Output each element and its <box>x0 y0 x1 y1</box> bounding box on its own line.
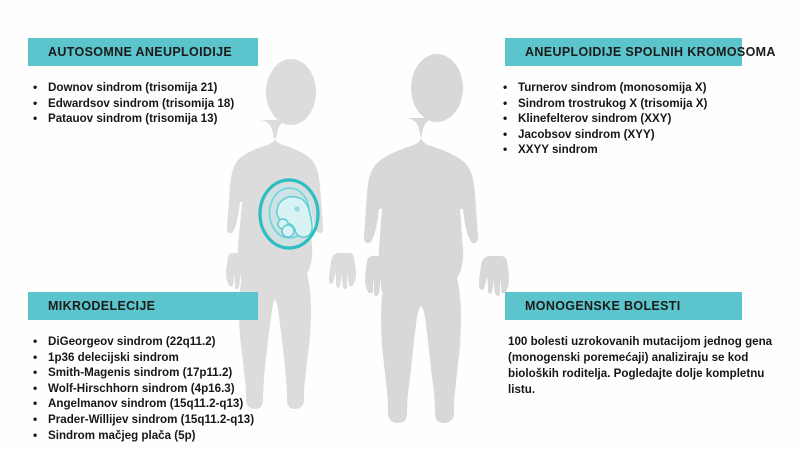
list-item: •Downov sindrom (trisomija 21) <box>28 80 278 96</box>
bullet-icon: • <box>503 80 507 96</box>
list-item-label: Wolf-Hirschhorn sindrom (4p16.3) <box>48 382 235 395</box>
list-item-label: 1p36 delecijski sindrom <box>48 351 179 364</box>
header-bar-sex-chromosome-aneuploidies: ANEUPLOIDIJE SPOLNIH KROMOSOMA <box>505 38 742 66</box>
list-item-label: Prader-Willijev sindrom (15q11.2-q13) <box>48 413 254 426</box>
bullet-icon: • <box>33 365 37 381</box>
list-item-label: Jacobsov sindrom (XYY) <box>518 128 655 141</box>
bullet-icon: • <box>503 127 507 143</box>
bullet-icon: • <box>33 428 37 444</box>
list-item: •Prader-Willijev sindrom (15q11.2-q13) <box>28 412 278 428</box>
panel-monogenic-diseases: 100 bolesti uzrokovanih mutacijom jednog… <box>508 334 793 398</box>
header-title-microdeletions: MIKRODELECIJE <box>28 299 155 313</box>
list-item: •1p36 delecijski sindrom <box>28 350 278 366</box>
list-item-label: DiGeorgeov sindrom (22q11.2) <box>48 335 216 348</box>
bullet-icon: • <box>33 80 37 96</box>
list-item: •Angelmanov sindrom (15q11.2-q13) <box>28 396 278 412</box>
bullet-icon: • <box>33 334 37 350</box>
bullet-icon: • <box>503 96 507 112</box>
header-bar-monogenic-diseases: MONOGENSKE BOLESTI <box>505 292 742 320</box>
list-item: •Wolf-Hirschhorn sindrom (4p16.3) <box>28 381 278 397</box>
bullet-icon: • <box>33 96 37 112</box>
list-item: •Jacobsov sindrom (XYY) <box>498 127 778 143</box>
list-item: •Sindrom mačjeg plača (5p) <box>28 428 278 444</box>
embryo-illustration <box>258 178 320 250</box>
list-autosomal: •Downov sindrom (trisomija 21) •Edwardso… <box>28 80 278 127</box>
list-microdeletions: •DiGeorgeov sindrom (22q11.2) •1p36 dele… <box>28 334 278 443</box>
bullet-icon: • <box>33 396 37 412</box>
header-bar-autosomal-aneuploidies: AUTOSOMNE ANEUPLOIDIJE <box>28 38 258 66</box>
list-item-label: Turnerov sindrom (monosomija X) <box>518 81 707 94</box>
bullet-icon: • <box>33 350 37 366</box>
male-body-silhouette <box>364 54 509 423</box>
list-item-label: Patauov sindrom (trisomija 13) <box>48 112 217 125</box>
list-item: •Edwardsov sindrom (trisomija 18) <box>28 96 278 112</box>
list-item-label: Edwardsov sindrom (trisomija 18) <box>48 97 234 110</box>
list-item-label: Angelmanov sindrom (15q11.2-q13) <box>48 397 243 410</box>
list-item: •Patauov sindrom (trisomija 13) <box>28 111 278 127</box>
list-item-label: Sindrom mačjeg plača (5p) <box>48 429 196 442</box>
panel-microdeletions: •DiGeorgeov sindrom (22q11.2) •1p36 dele… <box>28 334 278 443</box>
list-item: •DiGeorgeov sindrom (22q11.2) <box>28 334 278 350</box>
list-item-label: Downov sindrom (trisomija 21) <box>48 81 217 94</box>
panel-autosomal-aneuploidies: •Downov sindrom (trisomija 21) •Edwardso… <box>28 80 278 127</box>
header-title-sex-chromosomes: ANEUPLOIDIJE SPOLNIH KROMOSOMA <box>505 45 776 59</box>
bullet-icon: • <box>33 381 37 397</box>
header-title-monogenic: MONOGENSKE BOLESTI <box>505 299 681 313</box>
bullet-icon: • <box>33 412 37 428</box>
list-item: •Sindrom trostrukog X (trisomija X) <box>498 96 778 112</box>
list-item-label: XXYY sindrom <box>518 143 598 156</box>
bullet-icon: • <box>503 111 507 127</box>
list-item-label: Sindrom trostrukog X (trisomija X) <box>518 97 707 110</box>
bullet-icon: • <box>33 111 37 127</box>
list-sex-chromosomes: •Turnerov sindrom (monosomija X) •Sindro… <box>498 80 778 158</box>
list-item-label: Smith-Magenis sindrom (17p11.2) <box>48 366 232 379</box>
list-item: •Smith-Magenis sindrom (17p11.2) <box>28 365 278 381</box>
list-item-label: Klinefelterov sindrom (XXY) <box>518 112 671 125</box>
list-item: •XXYY sindrom <box>498 142 778 158</box>
monogenic-description: 100 bolesti uzrokovanih mutacijom jednog… <box>508 334 793 398</box>
infographic-canvas: AUTOSOMNE ANEUPLOIDIJE •Downov sindrom (… <box>0 0 800 450</box>
list-item: •Klinefelterov sindrom (XXY) <box>498 111 778 127</box>
header-bar-microdeletions: MIKRODELECIJE <box>28 292 258 320</box>
header-title-autosomal: AUTOSOMNE ANEUPLOIDIJE <box>28 45 232 59</box>
panel-sex-chromosome-aneuploidies: •Turnerov sindrom (monosomija X) •Sindro… <box>498 80 778 158</box>
bullet-icon: • <box>503 142 507 158</box>
list-item: •Turnerov sindrom (monosomija X) <box>498 80 778 96</box>
